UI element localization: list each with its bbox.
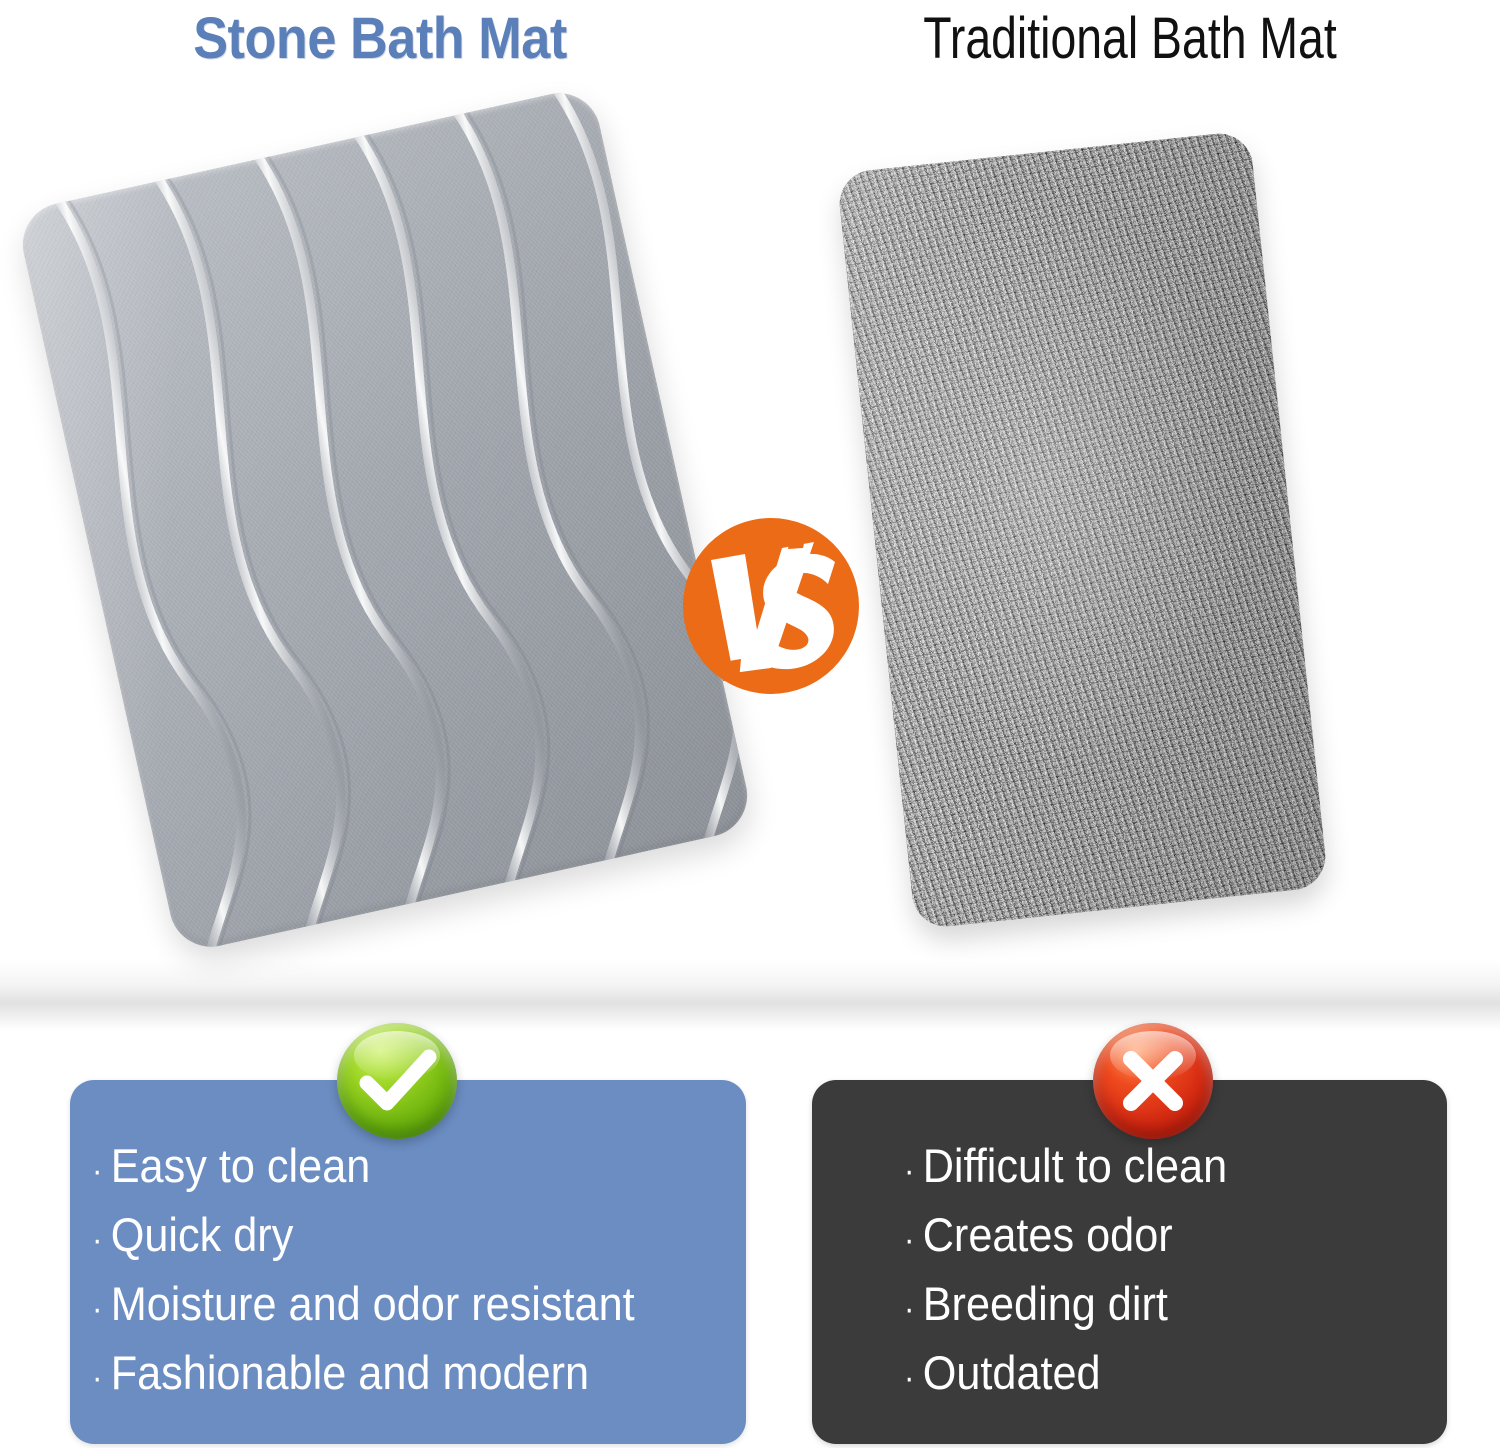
bullet-dot-icon: · [904,1208,914,1272]
list-item: · Quick dry [92,1203,673,1272]
bullet-dot-icon: · [92,1346,102,1410]
list-item-label: Difficult to clean [923,1134,1227,1198]
bullet-dot-icon: · [904,1346,914,1410]
stone-mat-wave-grooves [15,85,756,955]
list-item: · Breeding dirt [904,1272,1383,1341]
traditional-mat-shading [836,130,1328,929]
cons-bullet-list: · Difficult to clean · Creates odor · Br… [812,1134,1447,1410]
comparison-panels: · Easy to clean · Quick dry · Moisture a… [0,1010,1500,1448]
product-comparison-stage [0,80,1500,1010]
list-item-label: Creates odor [923,1203,1173,1267]
bullet-dot-icon: · [904,1139,914,1203]
list-item-label: Breeding dirt [923,1272,1168,1336]
list-item-label: Outdated [923,1341,1101,1405]
cross-badge-icon [1093,1023,1213,1139]
page-title-left: Stone Bath Mat [38,2,722,76]
list-item-label: Fashionable and modern [111,1341,589,1405]
check-badge-icon [337,1023,457,1139]
list-item-label: Moisture and odor resistant [111,1272,635,1336]
traditional-bath-mat-image [836,130,1328,929]
bullet-dot-icon: · [92,1208,102,1272]
list-item: · Creates odor [904,1203,1383,1272]
traditional-mat-surface [836,130,1328,929]
list-item: · Easy to clean [92,1134,673,1203]
list-item-label: Easy to clean [111,1134,371,1198]
list-item-label: Quick dry [111,1203,294,1267]
bullet-dot-icon: · [92,1277,102,1341]
bullet-dot-icon: · [904,1277,914,1341]
vs-label-icon [683,518,859,694]
list-item: · Moisture and odor resistant [92,1272,673,1341]
page-title-right: Traditional Bath Mat [834,2,1426,76]
list-item: · Outdated [904,1341,1383,1410]
pros-bullet-list: · Easy to clean · Quick dry · Moisture a… [70,1134,746,1410]
close-icon [1093,1023,1213,1139]
checkmark-icon [337,1023,457,1139]
stone-bath-mat-image [15,85,756,955]
stone-mat-surface [15,85,756,955]
vs-badge [683,518,859,694]
list-item: · Fashionable and modern [92,1341,673,1410]
list-item: · Difficult to clean [904,1134,1383,1203]
bullet-dot-icon: · [92,1139,102,1203]
